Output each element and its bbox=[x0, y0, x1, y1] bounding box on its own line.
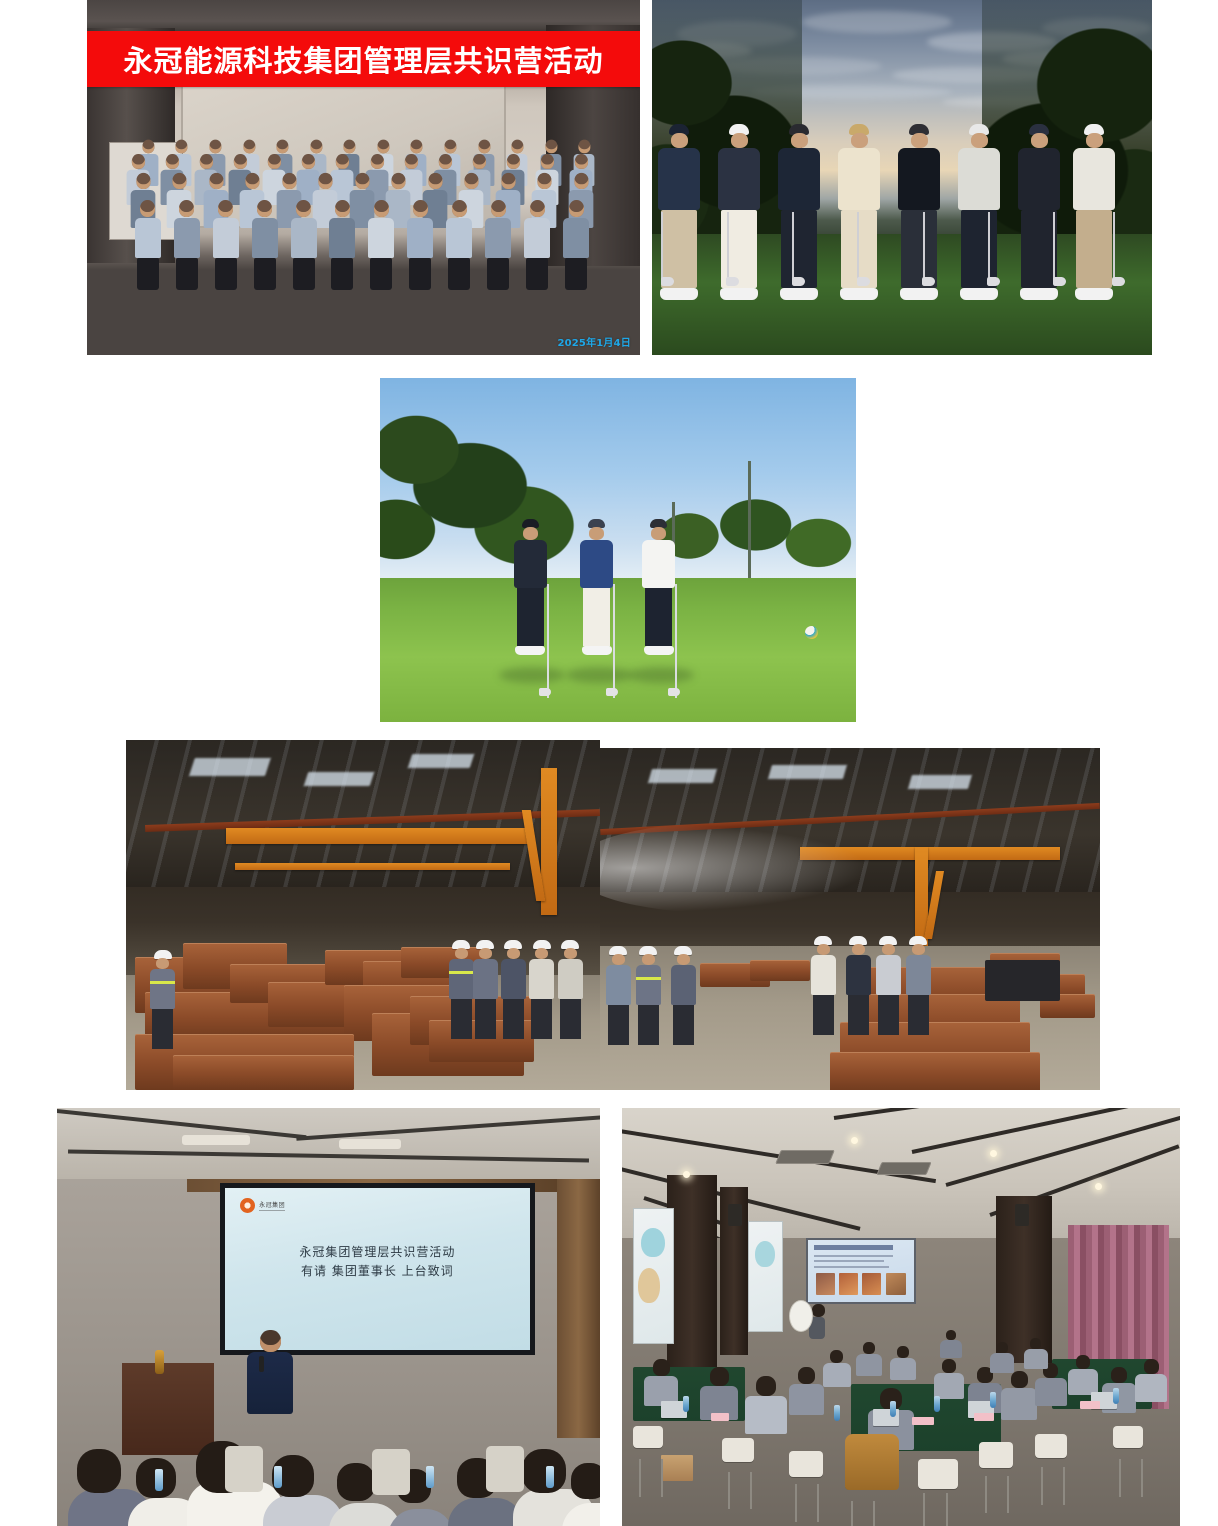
chair-leg bbox=[728, 1472, 730, 1510]
member-head bbox=[335, 200, 350, 217]
skylight-2 bbox=[304, 772, 375, 786]
golf-club-head bbox=[661, 277, 674, 286]
group-member bbox=[446, 200, 472, 290]
factory-visitor bbox=[472, 940, 498, 1039]
member-head bbox=[310, 139, 322, 153]
factory-visitor bbox=[448, 940, 474, 1039]
audience-head bbox=[77, 1449, 121, 1493]
visitor-jacket bbox=[671, 965, 696, 1005]
factory-right-scene bbox=[600, 748, 1100, 1090]
event-title-banner: 永冠能源科技集团管理层共识营活动 bbox=[87, 31, 640, 87]
visitor-head bbox=[852, 944, 865, 955]
event-title-text: 永冠能源科技集团管理层共识营活动 bbox=[123, 38, 603, 80]
golfer bbox=[1072, 124, 1116, 300]
attendee-head bbox=[946, 1330, 956, 1340]
visitor-legs bbox=[608, 1005, 629, 1045]
golf-dusk-scene bbox=[652, 0, 1152, 355]
attendee-head bbox=[997, 1342, 1008, 1353]
visitor-legs bbox=[673, 1005, 694, 1045]
attendee-head bbox=[897, 1346, 909, 1358]
visitor-head bbox=[564, 948, 577, 959]
wide-slide-image-1 bbox=[816, 1273, 835, 1294]
visitor-jacket bbox=[606, 965, 631, 1005]
water-bottle bbox=[990, 1392, 996, 1408]
player-club-head bbox=[668, 688, 680, 696]
attendee bbox=[1035, 1363, 1067, 1406]
visitor-legs bbox=[908, 995, 929, 1035]
member-shirt bbox=[213, 218, 239, 258]
slide-line-2: 有请 集团董事长 上台致词 bbox=[225, 1262, 530, 1281]
attendee bbox=[890, 1346, 916, 1380]
visitor-head bbox=[612, 954, 625, 965]
chair-leg bbox=[795, 1484, 797, 1522]
attendee bbox=[1024, 1338, 1048, 1369]
member-head bbox=[377, 139, 389, 153]
member-legs bbox=[137, 258, 159, 290]
player-face bbox=[651, 527, 666, 540]
speech-room-scene: 永冠集团 永冠集团管理层共识营活动 有请 集团董事长 上台致词 bbox=[57, 1108, 600, 1526]
attendee-torso bbox=[823, 1363, 851, 1387]
golfer-shoes bbox=[780, 288, 818, 300]
attendee-head bbox=[756, 1376, 776, 1396]
factory-visitor bbox=[670, 946, 696, 1045]
attendee-torso bbox=[1135, 1374, 1167, 1402]
member-head bbox=[410, 139, 422, 153]
factory-visitor bbox=[557, 940, 583, 1039]
factory-visitor bbox=[500, 940, 526, 1039]
golfer bbox=[957, 124, 1001, 300]
member-shirt bbox=[485, 218, 511, 258]
member-head bbox=[296, 200, 311, 217]
audience-chair bbox=[225, 1446, 263, 1492]
visitor-jacket bbox=[876, 955, 901, 995]
wall-art-2 bbox=[748, 1221, 783, 1332]
factory-visitor bbox=[605, 946, 631, 1045]
golf-player bbox=[513, 519, 547, 655]
golf-club-head bbox=[726, 277, 739, 286]
water-bottle bbox=[426, 1466, 434, 1488]
member-shirt bbox=[368, 218, 394, 258]
trees-left bbox=[380, 406, 580, 606]
wide-slide-image-2 bbox=[839, 1273, 858, 1294]
audience-chair bbox=[372, 1449, 410, 1495]
member-head bbox=[370, 154, 383, 169]
attendee-torso bbox=[1035, 1378, 1067, 1406]
visitor-head bbox=[535, 948, 548, 959]
golfer bbox=[1017, 124, 1061, 300]
member-head bbox=[136, 173, 150, 189]
player-shoes bbox=[582, 646, 612, 655]
attendee-head bbox=[1111, 1367, 1127, 1383]
water-bottle bbox=[274, 1466, 282, 1488]
name-card bbox=[974, 1413, 994, 1421]
chair-leg bbox=[1119, 1459, 1121, 1497]
photo-golf-three-players bbox=[380, 378, 856, 722]
attendee bbox=[940, 1330, 962, 1358]
member-head bbox=[200, 154, 213, 169]
golf-club-shaft bbox=[661, 212, 663, 279]
wide-slide-image-4 bbox=[886, 1273, 906, 1294]
wooden-stool bbox=[661, 1455, 693, 1481]
member-head bbox=[175, 139, 187, 153]
member-shirt bbox=[446, 218, 472, 258]
photo-date-stamp: 2025年1月4日 bbox=[557, 334, 631, 349]
golf-player bbox=[580, 519, 614, 655]
player-pants bbox=[583, 588, 610, 646]
player-pants bbox=[645, 588, 672, 646]
member-legs bbox=[293, 258, 315, 290]
member-head bbox=[336, 154, 349, 169]
people-rows bbox=[120, 128, 607, 291]
photo-conference-room-wide bbox=[622, 1108, 1180, 1526]
member-head bbox=[374, 200, 389, 217]
ceiling-light-strip-2 bbox=[339, 1139, 401, 1149]
golfer-shoes bbox=[960, 288, 998, 300]
golf-fairway-scene bbox=[380, 378, 856, 722]
member-head bbox=[209, 173, 223, 189]
member-legs bbox=[409, 258, 431, 290]
skylight-b bbox=[768, 765, 847, 779]
golf-club-shaft bbox=[857, 212, 859, 279]
member-head bbox=[574, 154, 587, 169]
attendee bbox=[990, 1342, 1014, 1373]
attendee bbox=[1001, 1371, 1037, 1420]
golf-player bbox=[642, 519, 676, 655]
golfer-face bbox=[671, 133, 688, 148]
member-shirt bbox=[407, 218, 433, 258]
group-member bbox=[252, 200, 278, 290]
attendee bbox=[789, 1367, 824, 1415]
attendee-torso bbox=[990, 1353, 1014, 1373]
golfer-jacket bbox=[658, 148, 700, 210]
member-shirt bbox=[563, 218, 589, 258]
ceiling-light-strip-1 bbox=[182, 1135, 250, 1145]
golf-club-shaft bbox=[792, 212, 794, 279]
chair-leg bbox=[923, 1493, 925, 1526]
water-bottle bbox=[546, 1466, 554, 1488]
golfer-face bbox=[911, 133, 928, 148]
light-pole bbox=[748, 461, 751, 578]
overhead-crane-girder bbox=[226, 828, 529, 844]
golfer bbox=[777, 124, 821, 300]
audience-chair bbox=[486, 1446, 524, 1492]
golfer-jacket bbox=[1018, 148, 1060, 210]
name-card bbox=[912, 1417, 934, 1425]
visitor-jacket bbox=[473, 959, 498, 999]
chair-leg bbox=[1041, 1467, 1043, 1505]
visitor-jacket bbox=[811, 955, 836, 995]
member-head bbox=[276, 139, 288, 153]
golf-club-shaft bbox=[923, 212, 925, 279]
water-bottle bbox=[834, 1405, 840, 1421]
golfer-shoes bbox=[840, 288, 878, 300]
member-head bbox=[444, 139, 456, 153]
attendee bbox=[1068, 1355, 1098, 1395]
member-head bbox=[268, 154, 281, 169]
factory-left-scene bbox=[126, 740, 600, 1090]
golfer bbox=[897, 124, 941, 300]
member-head bbox=[511, 139, 523, 153]
chair-leg bbox=[1063, 1467, 1065, 1505]
player-club bbox=[675, 584, 677, 698]
attendee-head bbox=[710, 1367, 729, 1386]
member-head bbox=[464, 173, 478, 189]
member-legs bbox=[448, 258, 470, 290]
fairway-grass bbox=[380, 578, 856, 722]
member-head bbox=[530, 200, 545, 217]
member-head bbox=[172, 173, 186, 189]
group-member bbox=[135, 200, 161, 290]
chair-leg bbox=[817, 1484, 819, 1522]
photo-golf-team-dusk bbox=[652, 0, 1152, 355]
folding-chair bbox=[789, 1451, 823, 1477]
member-head bbox=[165, 154, 178, 169]
group-member bbox=[485, 200, 511, 290]
photo-chairman-speech: 永冠集团 永冠集团管理层共识营活动 有请 集团董事长 上台致词 bbox=[57, 1108, 600, 1526]
conference-wide-scene bbox=[622, 1108, 1180, 1526]
group-member bbox=[524, 200, 550, 290]
factory-visitor bbox=[845, 936, 871, 1035]
name-card bbox=[711, 1413, 729, 1421]
player-club bbox=[547, 584, 549, 698]
member-head bbox=[179, 200, 194, 217]
member-head bbox=[142, 139, 154, 153]
attendee-head bbox=[830, 1350, 843, 1363]
member-legs bbox=[254, 258, 276, 290]
group-member bbox=[174, 200, 200, 290]
visitor-legs bbox=[475, 999, 496, 1039]
member-head bbox=[391, 173, 405, 189]
art-shape-c bbox=[755, 1241, 774, 1267]
attendee-torso bbox=[856, 1354, 882, 1376]
photo-factory-tour-right bbox=[600, 748, 1100, 1090]
attendee bbox=[745, 1376, 787, 1434]
speaker-head bbox=[260, 1330, 281, 1352]
visitor-legs bbox=[152, 1009, 173, 1049]
wide-slide-line-3 bbox=[814, 1266, 888, 1268]
member-head bbox=[318, 173, 332, 189]
member-head bbox=[452, 200, 467, 217]
audience-shoulders bbox=[388, 1509, 454, 1526]
golfer-face bbox=[851, 133, 868, 148]
group-member bbox=[368, 200, 394, 290]
audience-head bbox=[522, 1449, 566, 1493]
attendee-torso bbox=[745, 1396, 787, 1434]
golfer-shoes bbox=[900, 288, 938, 300]
audience-shoulders bbox=[329, 1503, 401, 1526]
golfer-jacket bbox=[1073, 148, 1115, 210]
attendee-torso bbox=[789, 1384, 824, 1415]
member-head bbox=[404, 154, 417, 169]
player-shadow bbox=[499, 667, 565, 683]
wide-projector-screen bbox=[806, 1238, 916, 1305]
air-vent-2 bbox=[876, 1162, 931, 1175]
chair-leg bbox=[639, 1459, 641, 1497]
wall-art-1 bbox=[633, 1208, 674, 1344]
member-shirt bbox=[329, 218, 355, 258]
slide-line-1: 永冠集团管理层共识营活动 bbox=[225, 1243, 530, 1262]
member-head bbox=[537, 173, 551, 189]
golf-club-shaft bbox=[727, 212, 729, 279]
player-shadow bbox=[566, 667, 632, 683]
golfer-jacket bbox=[898, 148, 940, 210]
player-jacket bbox=[580, 540, 613, 588]
golf-club-head bbox=[987, 277, 1000, 286]
photo-factory-tour-left bbox=[126, 740, 600, 1090]
water-bottle bbox=[890, 1401, 896, 1417]
golfer-face bbox=[791, 133, 808, 148]
visitor-jacket bbox=[558, 959, 583, 999]
player-shoes bbox=[515, 646, 545, 655]
golf-club-shaft bbox=[988, 212, 990, 279]
attendee-head bbox=[1011, 1371, 1028, 1388]
folding-chair bbox=[979, 1442, 1013, 1468]
member-shirt bbox=[291, 218, 317, 258]
member-legs bbox=[526, 258, 548, 290]
chair-leg bbox=[985, 1476, 987, 1514]
folding-chair bbox=[722, 1438, 754, 1462]
reflective-stripe bbox=[636, 977, 661, 980]
attendee-head bbox=[863, 1342, 875, 1354]
visitor-head bbox=[882, 944, 895, 955]
member-shirt bbox=[252, 218, 278, 258]
member-legs bbox=[370, 258, 392, 290]
attendee bbox=[823, 1350, 851, 1387]
player-face bbox=[523, 527, 538, 540]
visitor-jacket bbox=[636, 965, 661, 1005]
slide-logo: 永冠集团 bbox=[240, 1198, 285, 1213]
player-jacket bbox=[642, 540, 675, 588]
visitor-head bbox=[479, 948, 492, 959]
member-head bbox=[472, 154, 485, 169]
member-head bbox=[413, 200, 428, 217]
cloud bbox=[802, 11, 952, 33]
member-head bbox=[506, 154, 519, 169]
attendee-torso bbox=[1024, 1349, 1048, 1369]
attendee-head bbox=[1144, 1359, 1159, 1374]
golfer-jacket bbox=[718, 148, 760, 210]
player-club-head bbox=[539, 688, 551, 696]
member-head bbox=[131, 154, 144, 169]
folding-chair bbox=[1113, 1426, 1143, 1448]
golfer bbox=[837, 124, 881, 300]
folding-chair bbox=[918, 1459, 958, 1489]
visitor-legs bbox=[503, 999, 524, 1039]
ceiling-speaker-left bbox=[728, 1204, 742, 1226]
golfer-shoes bbox=[660, 288, 698, 300]
golfer bbox=[717, 124, 761, 300]
air-vent-1 bbox=[775, 1150, 835, 1164]
member-head bbox=[478, 139, 490, 153]
sand-mold bbox=[830, 1052, 1040, 1090]
chair-leg bbox=[873, 1501, 875, 1526]
golfer-pants bbox=[1021, 210, 1057, 288]
golf-club-shaft bbox=[1113, 212, 1115, 279]
member-legs bbox=[215, 258, 237, 290]
golfer-face bbox=[1086, 133, 1103, 148]
golfer-pants bbox=[1076, 210, 1112, 288]
member-legs bbox=[565, 258, 587, 290]
visitor-jacket bbox=[846, 955, 871, 995]
golfer-jacket bbox=[778, 148, 820, 210]
attendee bbox=[1135, 1359, 1167, 1402]
dark-steel-block bbox=[985, 960, 1060, 1001]
golfer-face bbox=[1031, 133, 1048, 148]
attendee-torso bbox=[940, 1340, 962, 1358]
chair-leg bbox=[750, 1472, 752, 1510]
player-shadow bbox=[628, 667, 694, 683]
factory-visitor bbox=[150, 950, 176, 1049]
attendee bbox=[934, 1359, 964, 1399]
player-jacket bbox=[514, 540, 547, 588]
member-head bbox=[282, 173, 296, 189]
folding-chair bbox=[1035, 1434, 1067, 1458]
slide-body-text: 永冠集团管理层共识营活动 有请 集团董事长 上台致词 bbox=[225, 1243, 530, 1281]
chair-leg bbox=[1007, 1476, 1009, 1514]
group-member bbox=[329, 200, 355, 290]
player-shoes bbox=[644, 646, 674, 655]
visitor-legs bbox=[531, 999, 552, 1039]
draped-chair-cover bbox=[845, 1434, 899, 1490]
skylight-c bbox=[908, 775, 972, 789]
golfer-shoes bbox=[1075, 288, 1113, 300]
member-shirt bbox=[135, 218, 161, 258]
player-face bbox=[589, 527, 604, 540]
member-head bbox=[540, 154, 553, 169]
member-head bbox=[569, 200, 584, 217]
golfer-jacket bbox=[838, 148, 880, 210]
attendee-head bbox=[798, 1367, 815, 1384]
member-head bbox=[209, 139, 221, 153]
member-head bbox=[438, 154, 451, 169]
chair-leg bbox=[946, 1493, 948, 1526]
visitor-legs bbox=[848, 995, 869, 1035]
member-head bbox=[302, 154, 315, 169]
art-shape-a bbox=[641, 1228, 664, 1257]
attendee-torso bbox=[890, 1358, 916, 1380]
factory-visitor bbox=[635, 946, 661, 1045]
member-head bbox=[574, 173, 588, 189]
member-head bbox=[243, 139, 255, 153]
ceiling-speaker-right bbox=[1015, 1204, 1029, 1226]
golfer-face bbox=[971, 133, 988, 148]
factory-visitor bbox=[875, 936, 901, 1035]
golfer-face bbox=[731, 133, 748, 148]
attendee-head bbox=[1030, 1338, 1041, 1349]
member-legs bbox=[176, 258, 198, 290]
golfer-shoes bbox=[720, 288, 758, 300]
golf-club-head bbox=[792, 277, 805, 286]
member-head bbox=[428, 173, 442, 189]
visitor-jacket bbox=[449, 959, 474, 999]
visitor-head bbox=[912, 944, 925, 955]
water-bottle bbox=[934, 1396, 940, 1412]
slide-logo-text: 永冠集团 bbox=[259, 1200, 285, 1211]
golfer-jacket bbox=[958, 148, 1000, 210]
group-member bbox=[213, 200, 239, 290]
member-legs bbox=[487, 258, 509, 290]
golfer-shoes bbox=[1020, 288, 1058, 300]
player-pants bbox=[517, 588, 544, 646]
presenter-head bbox=[812, 1304, 825, 1317]
visitor-jacket bbox=[529, 959, 554, 999]
audience-head bbox=[571, 1463, 600, 1499]
reflective-stripe bbox=[150, 981, 175, 984]
group-member bbox=[407, 200, 433, 290]
visitor-legs bbox=[638, 1005, 659, 1045]
golf-club-head bbox=[857, 277, 870, 286]
water-bottle bbox=[683, 1396, 689, 1412]
